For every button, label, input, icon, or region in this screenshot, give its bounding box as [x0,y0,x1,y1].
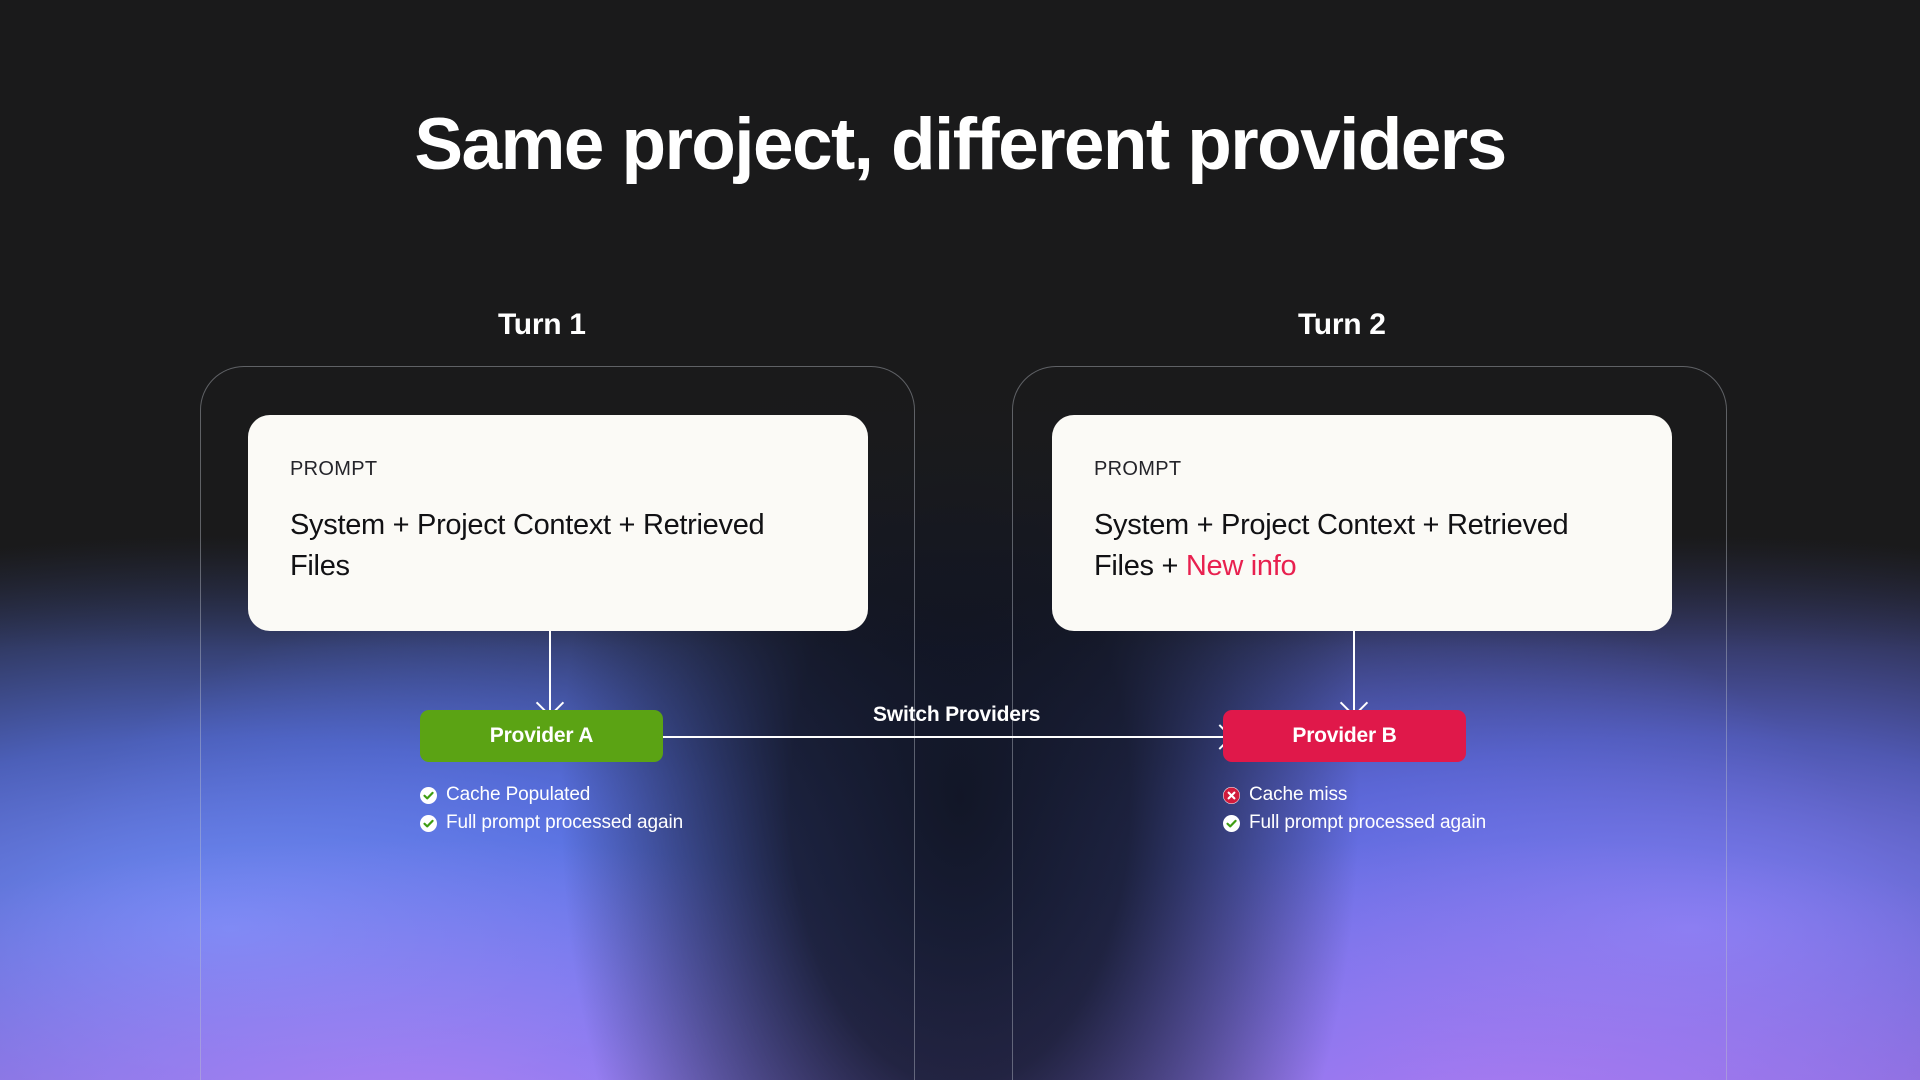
status-row: Cache Populated [420,784,683,806]
prompt-body: System + Project Context + Retrieved Fil… [1094,505,1630,587]
x-circle-icon [1223,787,1240,804]
turn-2-label: Turn 2 [1298,308,1386,342]
diagram-canvas: Same project, different providers Turn 1… [0,0,1920,1080]
status-row: Full prompt processed again [1223,812,1486,834]
status-row: Cache miss [1223,784,1486,806]
switch-providers-line [660,736,1225,738]
status-label: Full prompt processed again [1249,812,1486,834]
provider-b-pill[interactable]: Provider B [1223,710,1466,762]
status-list-turn-1: Cache Populated Full prompt processed ag… [420,784,683,840]
prompt-text: System + Project Context + Retrieved Fil… [290,509,764,582]
check-circle-icon [420,787,437,804]
check-circle-icon [1223,815,1240,832]
status-label: Cache miss [1249,784,1347,806]
provider-a-label: Provider A [490,724,593,748]
prompt-kicker: PROMPT [290,459,826,479]
provider-a-pill[interactable]: Provider A [420,710,663,762]
prompt-text: System + Project Context + Retrieved Fil… [1094,509,1568,582]
switch-providers-label: Switch Providers [873,703,1040,727]
prompt-card-turn-2: PROMPT System + Project Context + Retrie… [1052,415,1672,631]
prompt-accent-text: New info [1186,550,1296,582]
prompt-kicker: PROMPT [1094,459,1630,479]
status-label: Cache Populated [446,784,590,806]
turn-1-label: Turn 1 [498,308,586,342]
status-row: Full prompt processed again [420,812,683,834]
status-label: Full prompt processed again [446,812,683,834]
prompt-body: System + Project Context + Retrieved Fil… [290,505,826,587]
status-list-turn-2: Cache miss Full prompt processed again [1223,784,1486,840]
prompt-card-turn-1: PROMPT System + Project Context + Retrie… [248,415,868,631]
check-circle-icon [420,815,437,832]
page-title: Same project, different providers [0,108,1920,181]
provider-b-label: Provider B [1292,724,1396,748]
